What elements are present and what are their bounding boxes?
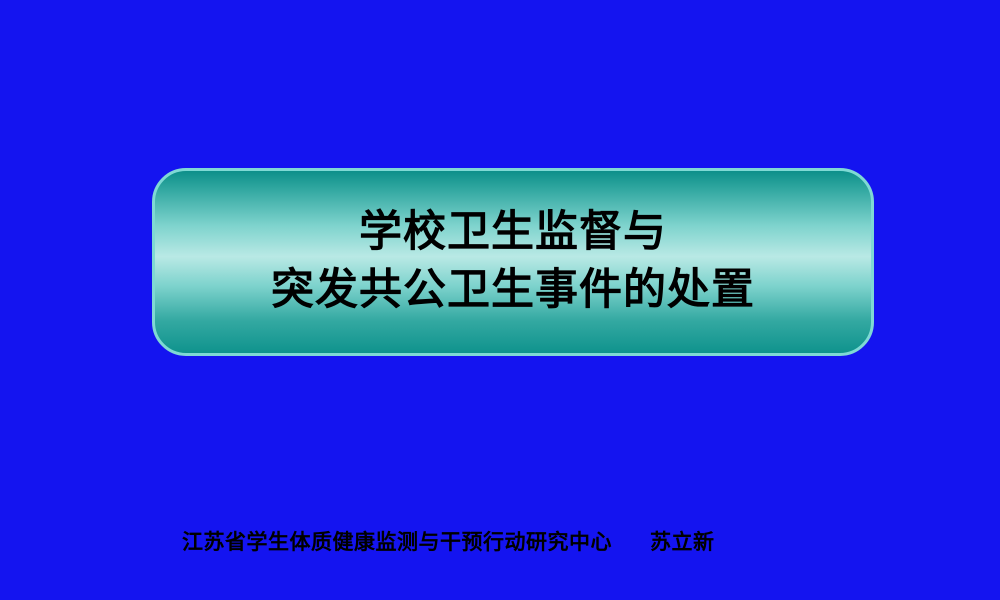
slide-footer: 江苏省学生体质健康监测与干预行动研究中心苏立新 — [182, 528, 942, 558]
slide-canvas: 学校卫生监督与 突发共公卫生事件的处置 江苏省学生体质健康监测与干预行动研究中心… — [0, 0, 1000, 600]
slide-title: 学校卫生监督与 突发共公卫生事件的处置 — [271, 204, 755, 319]
footer-author: 苏立新 — [650, 530, 715, 554]
title-banner: 学校卫生监督与 突发共公卫生事件的处置 — [152, 168, 874, 356]
footer-organization: 江苏省学生体质健康监测与干预行动研究中心 — [182, 530, 612, 554]
